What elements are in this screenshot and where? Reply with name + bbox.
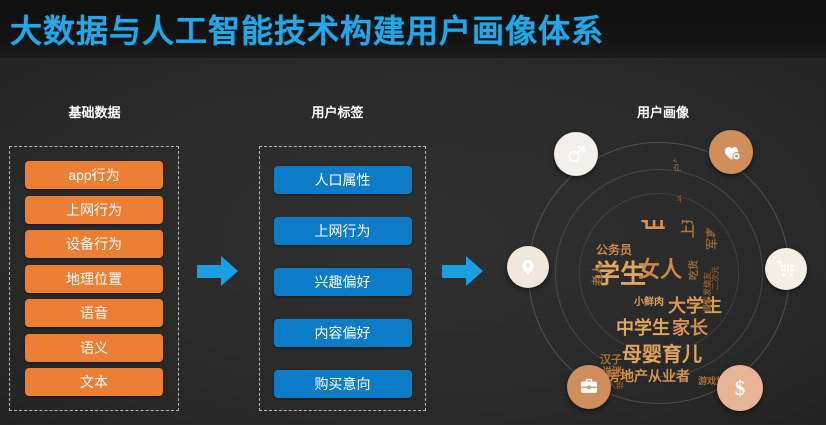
word-cloud-term: 中学生 <box>616 320 670 338</box>
word-cloud-term: 宅男 <box>677 196 681 204</box>
word-cloud-term: 汉子 <box>600 354 622 365</box>
location-pin-icon[interactable] <box>507 246 549 288</box>
shopping-cart-icon[interactable] <box>765 248 807 290</box>
diagram-stage: 基础数据 用户标签 用户画像 app行为上网行为设备行为地理位置语音语义文本 人… <box>0 0 826 425</box>
user-tag-chip-5[interactable]: 购买意向 <box>274 370 412 398</box>
word-cloud-silhouette: 御姐范求职已婚白领单身宅男恋爱中 公务员学生白领女人上班族军事小鲜肉大学生中学生… <box>580 152 732 392</box>
basic-data-chip-2[interactable]: 上网行为 <box>25 196 163 224</box>
income-dollar-icon[interactable]: $ <box>717 365 763 411</box>
basic-data-chip-7[interactable]: 文本 <box>25 368 163 396</box>
user-profile-visual: 御姐范求职已婚白领单身宅男恋爱中 公务员学生白领女人上班族军事小鲜肉大学生中学生… <box>492 120 826 425</box>
silhouette-body: 公务员学生白领女人上班族军事小鲜肉大学生中学生家长母婴育儿房地产从业者老人汉子小… <box>586 220 728 392</box>
basic-data-chip-3[interactable]: 设备行为 <box>25 230 163 258</box>
basic-data-chip-5[interactable]: 语音 <box>25 299 163 327</box>
svg-text:$: $ <box>735 378 745 400</box>
column-heading-user-profile: 用户画像 <box>503 102 823 121</box>
silhouette-head: 御姐范求职已婚白领单身宅男恋爱中 <box>633 152 681 230</box>
user-tag-chip-3[interactable]: 兴趣偏好 <box>274 268 412 296</box>
interest-heart-icon[interactable] <box>709 130 753 174</box>
word-cloud-term: 家长 <box>672 320 708 338</box>
person-silhouette: 御姐范求职已婚白领单身宅男恋爱中 公务员学生白领女人上班族军事小鲜肉大学生中学生… <box>580 152 732 392</box>
basic-data-chip-label: 地理位置 <box>66 269 122 289</box>
word-cloud-term: 小鲜肉 <box>634 298 664 308</box>
user-tag-chip-2[interactable]: 上网行为 <box>274 217 412 245</box>
user-tag-chip-label: 兴趣偏好 <box>315 272 371 292</box>
basic-data-chip-label: app行为 <box>68 165 119 185</box>
basic-data-chip-6[interactable]: 语义 <box>25 334 163 362</box>
word-cloud-term: 军事 <box>706 226 718 250</box>
word-cloud-term: 白领 <box>642 220 666 232</box>
word-cloud-term: 老人 <box>592 264 603 286</box>
basic-data-chip-label: 文本 <box>80 372 108 392</box>
user-tag-chip-4[interactable]: 内容偏好 <box>274 319 412 347</box>
basic-data-chip-1[interactable]: app行为 <box>25 161 163 189</box>
word-cloud-term: 母婴育儿 <box>622 344 702 364</box>
career-briefcase-icon[interactable] <box>567 365 611 409</box>
word-cloud-term: 公务员 <box>596 244 632 256</box>
basic-data-chip-label: 语音 <box>80 303 108 323</box>
user-tag-chip-label: 购买意向 <box>315 374 371 394</box>
user-tag-chip-label: 人口属性 <box>315 170 371 190</box>
word-cloud-term: 吃货 <box>690 260 700 280</box>
word-cloud-term: 大学生 <box>668 298 722 316</box>
basic-data-chip-4[interactable]: 地理位置 <box>25 265 163 293</box>
user-tag-chip-label: 上网行为 <box>315 221 371 241</box>
user-tag-chip-1[interactable]: 人口属性 <box>274 166 412 194</box>
column-heading-basic-data: 基础数据 <box>7 102 182 121</box>
word-cloud-term: 二次元 <box>712 266 720 290</box>
basic-data-chip-label: 设备行为 <box>66 234 122 254</box>
gender-icon[interactable] <box>554 132 598 176</box>
basic-data-group: app行为上网行为设备行为地理位置语音语义文本 <box>9 146 179 411</box>
word-cloud-term: 女人 <box>638 260 682 282</box>
column-heading-user-tags: 用户标签 <box>250 102 425 121</box>
arrow-shaft <box>197 265 223 278</box>
arrow-tags-to-profile <box>442 256 486 287</box>
arrow-head <box>466 256 483 286</box>
basic-data-chip-label: 语义 <box>80 338 108 358</box>
user-tag-chip-label: 内容偏好 <box>315 323 371 343</box>
arrow-shaft <box>442 265 468 278</box>
arrow-head <box>221 256 238 286</box>
word-cloud-term: 上班族 <box>682 220 696 238</box>
word-cloud-term: 白领 <box>675 154 681 172</box>
basic-data-chip-label: 上网行为 <box>66 200 122 220</box>
user-tags-group: 人口属性上网行为兴趣偏好内容偏好购买意向 <box>259 146 426 411</box>
arrow-basic-to-tags <box>197 256 241 287</box>
